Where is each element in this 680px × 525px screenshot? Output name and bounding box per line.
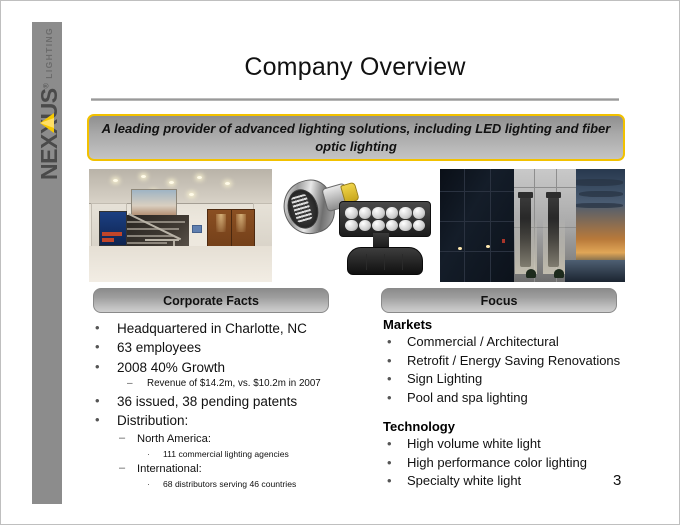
list-item-label: Revenue of $14.2m, vs. $10.2m in 2007	[147, 378, 321, 389]
list-item: •2008 40% Growth	[89, 358, 351, 377]
list-item: •36 issued, 38 pending patents	[89, 392, 351, 411]
logo-wordmark-text: NEXXUS	[36, 88, 62, 180]
photo-led-products	[277, 169, 433, 282]
photo-lobby-interior	[89, 169, 272, 282]
focus-list: Markets •Commercial / Architectural •Ret…	[379, 317, 647, 491]
list-item: •High volume white light	[379, 435, 647, 454]
slide-canvas: NEXXUS® LIGHTING CONNECTING ADVANCED TEC…	[0, 0, 680, 525]
flood-light-image	[339, 201, 429, 273]
corporate-facts-header-label: Corporate Facts	[163, 294, 259, 308]
bullet-dash-icon: –	[119, 460, 125, 477]
list-item-label: High volume white light	[407, 436, 541, 451]
list-item: •63 employees	[89, 338, 351, 357]
corporate-facts-header: Corporate Facts	[93, 288, 329, 313]
list-item-label: Sign Lighting	[407, 371, 482, 386]
rail-tagline: CONNECTING ADVANCED TECHNOLOGY WITH LIGH…	[5, 179, 29, 499]
focus-header: Focus	[381, 288, 617, 313]
bullet-small-dot-icon: ·	[147, 478, 150, 492]
focus-header-label: Focus	[481, 294, 518, 308]
bullet-dot-icon: •	[387, 333, 392, 352]
focus-group-spacer	[379, 408, 647, 419]
logo-wordmark: NEXXUS®	[38, 84, 61, 180]
bullet-dot-icon: •	[95, 338, 100, 357]
logo-registered-mark: ®	[43, 84, 50, 89]
list-item-label: High performance color lighting	[407, 455, 587, 470]
list-item: •Distribution:	[89, 411, 351, 430]
list-item-label: 68 distributors serving 46 countries	[163, 479, 296, 489]
page-number: 3	[613, 472, 621, 489]
bullet-dot-icon: •	[387, 472, 392, 491]
list-item-label: 111 commercial lighting agencies	[163, 449, 289, 459]
list-item-label: Specialty white light	[407, 473, 521, 488]
bullet-dot-icon: •	[387, 435, 392, 454]
list-item-label: Commercial / Architectural	[407, 334, 559, 349]
page-title: Company Overview	[91, 53, 619, 82]
bullet-dot-icon: •	[387, 352, 392, 371]
photo-building-facade-night	[440, 169, 625, 282]
list-item: ·111 commercial lighting agencies	[89, 448, 351, 461]
list-item: –International:	[89, 461, 351, 478]
bullet-dot-icon: •	[95, 411, 100, 430]
lobby-display-screen	[99, 211, 127, 246]
list-item-label: 2008 40% Growth	[117, 360, 225, 375]
focus-technology-items: •High volume white light •High performan…	[379, 435, 647, 491]
list-item: •Headquartered in Charlotte, NC	[89, 319, 351, 338]
list-item-label: International:	[137, 463, 202, 475]
list-item: •Pool and spa lighting	[379, 389, 647, 408]
list-item: •Specialty white light	[379, 472, 647, 491]
list-item: •Commercial / Architectural	[379, 333, 647, 352]
corporate-facts-list: •Headquartered in Charlotte, NC •63 empl…	[89, 319, 351, 491]
bullet-dot-icon: •	[387, 454, 392, 473]
list-item-label: 63 employees	[117, 340, 201, 355]
focus-markets-items: •Commercial / Architectural •Retrofit / …	[379, 333, 647, 408]
list-item: –Revenue of $14.2m, vs. $10.2m in 2007	[89, 377, 351, 392]
rail-tagline-text: CONNECTING ADVANCED TECHNOLOGY WITH LIGH…	[12, 215, 23, 499]
bullet-dot-icon: •	[95, 392, 100, 411]
list-item: ·68 distributors serving 46 countries	[89, 478, 351, 491]
bullet-small-dot-icon: ·	[147, 448, 150, 462]
list-item: •High performance color lighting	[379, 454, 647, 473]
bullet-dash-icon: –	[127, 376, 133, 391]
corporate-facts-items: •Headquartered in Charlotte, NC •63 empl…	[89, 319, 351, 491]
logo-subtext: LIGHTING	[45, 27, 54, 79]
list-item: •Retrofit / Energy Saving Renovations	[379, 352, 647, 371]
focus-group-heading: Markets	[379, 317, 647, 332]
list-item: •Sign Lighting	[379, 370, 647, 389]
list-item-label: Retrofit / Energy Saving Renovations	[407, 353, 620, 368]
tagline-banner: A leading provider of advanced lighting …	[87, 114, 625, 161]
logo-lockup: NEXXUS® LIGHTING	[34, 24, 62, 180]
nexxus-logo: NEXXUS® LIGHTING	[32, 22, 62, 184]
list-item-label: Distribution:	[117, 413, 188, 428]
title-divider	[91, 98, 619, 101]
list-item: –North America:	[89, 431, 351, 448]
bullet-dot-icon: •	[95, 319, 100, 338]
list-item-label: 36 issued, 38 pending patents	[117, 394, 297, 409]
focus-group-heading: Technology	[379, 419, 647, 434]
bullet-dot-icon: •	[387, 389, 392, 408]
list-item-label: Headquartered in Charlotte, NC	[117, 321, 307, 336]
list-item-label: Pool and spa lighting	[407, 390, 528, 405]
bullet-dash-icon: –	[119, 430, 125, 447]
bullet-dot-icon: •	[95, 358, 100, 377]
list-item-label: North America:	[137, 433, 211, 445]
tagline-text: A leading provider of advanced lighting …	[99, 120, 613, 155]
bullet-dot-icon: •	[387, 370, 392, 389]
